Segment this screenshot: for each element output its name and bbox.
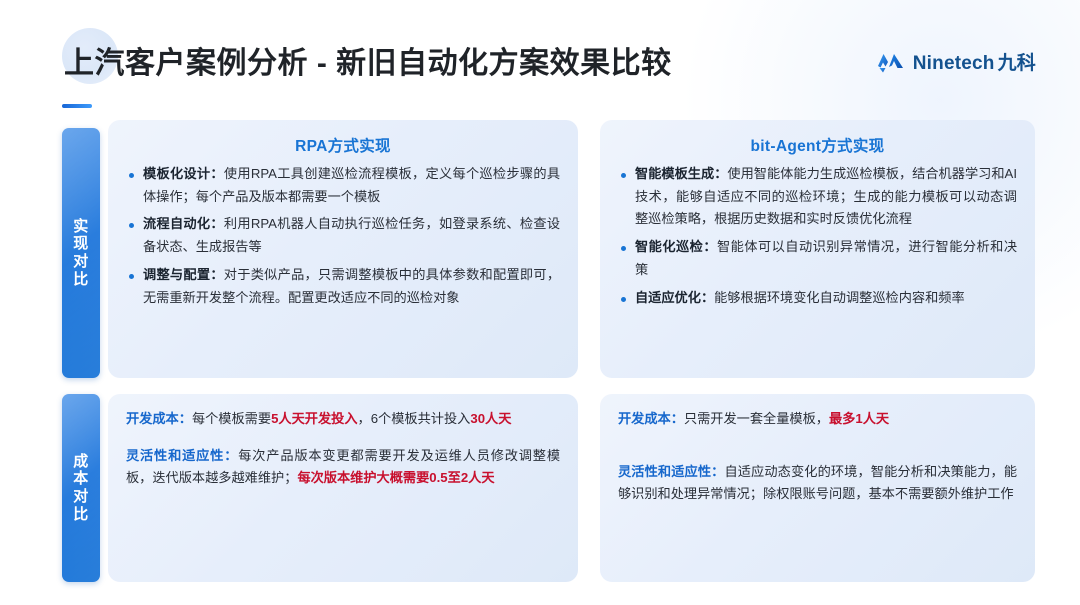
cost-text-2: ，6个模板共计投入 xyxy=(358,411,471,426)
panel-title-bit-agent: bit-Agent方式实现 xyxy=(618,134,1017,156)
list-item: 自适应优化：能够根据环境变化自动调整巡检内容和频率 xyxy=(618,287,1017,310)
cost-label: 灵活性和适应性 xyxy=(618,464,711,479)
panel-title-rpa: RPA方式实现 xyxy=(126,134,560,156)
cost-flexibility-rpa: 灵活性和适应性：每次产品版本变更都需要开发及运维人员修改调整模板，迭代版本越多越… xyxy=(126,445,560,490)
cost-highlight-1: 5人天开发投入 xyxy=(271,411,357,426)
cost-highlight-1: 每次版本维护大概需要0.5至2人天 xyxy=(297,470,494,485)
list-item: 智能模板生成：使用智能体能力生成巡检模板，结合机器学习和AI技术，能够自适应不同… xyxy=(618,163,1017,231)
panel-implementation-rpa: RPA方式实现 模板化设计：使用RPA工具创建巡检流程模板，定义每个巡检步骤的具… xyxy=(108,120,578,378)
title-underline-accent xyxy=(62,104,92,108)
cost-separator: ： xyxy=(224,448,238,463)
cost-text-1: 只需开发一套全量模板， xyxy=(684,411,829,426)
bullet-key: 智能模板生成 xyxy=(635,166,714,181)
bullet-key: 调整与配置 xyxy=(143,267,210,282)
slide-header: 上汽客户案例分析 - 新旧自动化方案效果比较 Ninetech九科 xyxy=(0,0,1080,115)
cost-label: 灵活性和适应性 xyxy=(126,448,224,463)
bullet-key: 自适应优化 xyxy=(635,290,701,305)
bullet-key: 模板化设计 xyxy=(143,166,210,181)
bullet-key: 智能化巡检 xyxy=(635,239,703,254)
cost-development-bit-agent: 开发成本：只需开发一套全量模板，最多1人天 xyxy=(618,408,1017,431)
bullet-text: 能够根据环境变化自动调整巡检内容和频率 xyxy=(714,290,965,305)
bullet-separator: ： xyxy=(210,216,223,231)
bullet-list-rpa: 模板化设计：使用RPA工具创建巡检流程模板，定义每个巡检步骤的具体操作；每个产品… xyxy=(126,163,560,309)
panel-implementation-bit-agent: bit-Agent方式实现 智能模板生成：使用智能体能力生成巡检模板，结合机器学… xyxy=(600,120,1035,378)
brand-name: Ninetech九科 xyxy=(913,48,1036,75)
cost-flexibility-bit-agent: 灵活性和适应性：自适应动态变化的环境，智能分析和决策能力，能够识别和处理异常情况… xyxy=(618,461,1017,506)
cost-development-rpa: 开发成本：每个模板需要5人天开发投入，6个模板共计投入30人天 xyxy=(126,408,560,431)
page-title: 上汽客户案例分析 - 新旧自动化方案效果比较 xyxy=(64,38,672,82)
brand-logo: Ninetech九科 xyxy=(877,48,1036,75)
brand-name-cn: 九科 xyxy=(998,53,1036,74)
brand-name-en: Ninetech xyxy=(913,53,995,74)
section-tab-implementation-label: 实现对比 xyxy=(71,218,91,289)
cost-highlight-1: 最多1人天 xyxy=(829,411,889,426)
bullet-key: 流程自动化 xyxy=(143,216,210,231)
list-item: 调整与配置：对于类似产品，只需调整模板中的具体参数和配置即可，无需重新开发整个流… xyxy=(126,264,560,309)
bullet-list-bit-agent: 智能模板生成：使用智能体能力生成巡检模板，结合机器学习和AI技术，能够自适应不同… xyxy=(618,163,1017,309)
bullet-separator: ： xyxy=(210,166,223,181)
cost-highlight-2: 30人天 xyxy=(470,411,511,426)
panel-cost-rpa: 开发成本：每个模板需要5人天开发投入，6个模板共计投入30人天 灵活性和适应性：… xyxy=(108,394,578,582)
section-tab-cost-label: 成本对比 xyxy=(71,453,91,524)
ninetech-mountain-logo-icon xyxy=(877,51,904,73)
bullet-separator: ： xyxy=(210,267,223,282)
bullet-separator: ： xyxy=(703,239,717,254)
list-item: 智能化巡检：智能体可以自动识别异常情况，进行智能分析和决策 xyxy=(618,236,1017,281)
section-tab-implementation[interactable]: 实现对比 xyxy=(62,128,100,378)
bullet-separator: ： xyxy=(714,166,727,181)
cost-separator: ： xyxy=(711,464,724,479)
cost-label: 开发成本 xyxy=(126,411,179,426)
section-tab-cost[interactable]: 成本对比 xyxy=(62,394,100,582)
cost-separator: ： xyxy=(671,411,684,426)
panel-cost-bit-agent: 开发成本：只需开发一套全量模板，最多1人天 灵活性和适应性：自适应动态变化的环境… xyxy=(600,394,1035,582)
bullet-separator: ： xyxy=(701,290,714,305)
cost-text-1: 每个模板需要 xyxy=(192,411,271,426)
list-item: 模板化设计：使用RPA工具创建巡检流程模板，定义每个巡检步骤的具体操作；每个产品… xyxy=(126,163,560,208)
cost-label: 开发成本 xyxy=(618,411,671,426)
list-item: 流程自动化：利用RPA机器人自动执行巡检任务，如登录系统、检查设备状态、生成报告… xyxy=(126,213,560,258)
cost-separator: ： xyxy=(179,411,192,426)
